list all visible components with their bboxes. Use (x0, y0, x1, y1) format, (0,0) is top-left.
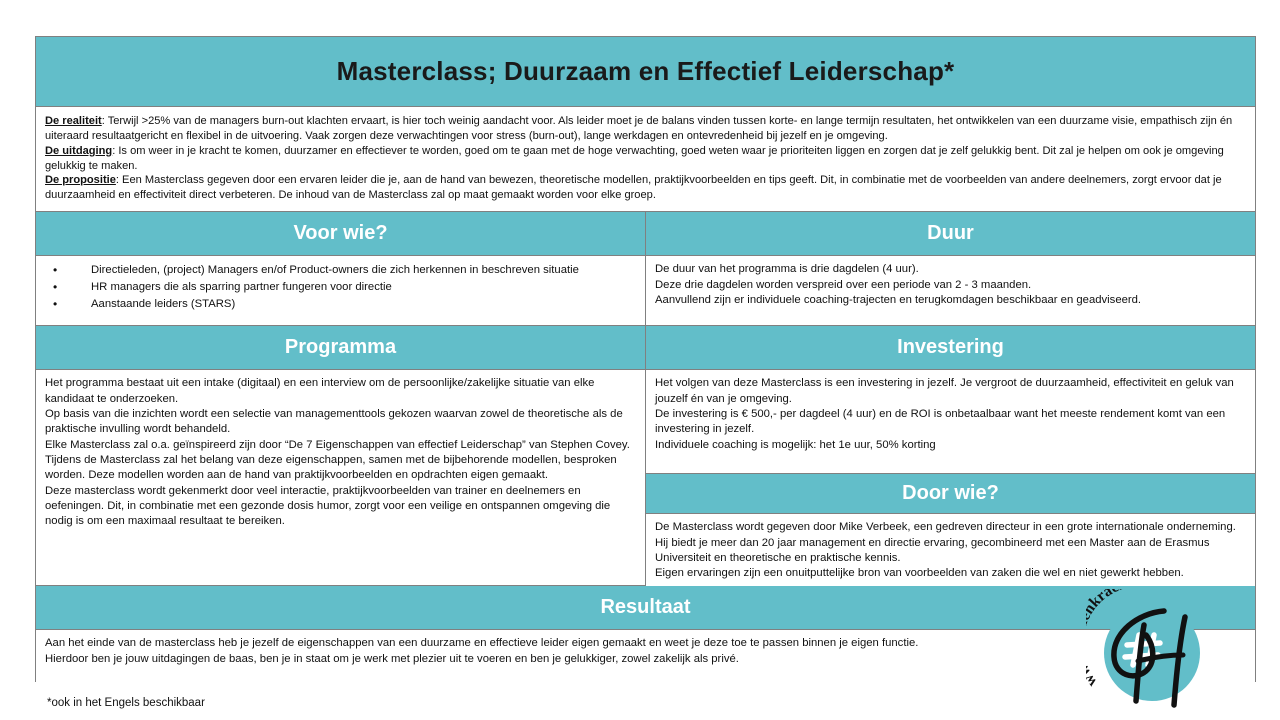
voorwie-duur-content-row: Directieleden, (project) Managers en/of … (36, 256, 1255, 326)
content-table: Masterclass; Duurzaam en Effectief Leide… (35, 36, 1256, 682)
duur-content: De duur van het programma is drie dagdel… (646, 256, 1255, 326)
list-item: Directieleden, (project) Managers en/of … (45, 262, 636, 279)
door-wie-paragraph: De Masterclass wordt gegeven door Mike V… (655, 520, 1246, 566)
section-heading-programma: Programma (36, 326, 646, 370)
intro-uitdaging: De uitdaging: Is om weer in je kracht te… (45, 144, 1246, 174)
list-item: Aanstaande leiders (STARS) (45, 296, 636, 313)
resultaat-content: Aan het einde van de masterclass heb je … (36, 630, 1255, 682)
duur-line: De duur van het programma is drie dagdel… (655, 262, 1246, 277)
intro-realiteit: De realiteit: Terwijl >25% van de manage… (45, 114, 1246, 144)
duur-line: Deze drie dagdelen worden verspreid over… (655, 278, 1246, 293)
intro-block: De realiteit: Terwijl >25% van de manage… (36, 107, 1255, 212)
intro-propositie-text: : Een Masterclass gegeven door een ervar… (45, 174, 1222, 201)
programma-paragraph: Op basis van die inzichten wordt een sel… (45, 407, 636, 438)
investering-doorwie-stack: Het volgen van deze Masterclass is een i… (646, 370, 1255, 586)
investering-content: Het volgen van deze Masterclass is een i… (646, 370, 1255, 474)
section-heading-resultaat: Resultaat (36, 586, 1255, 630)
intro-realiteit-text: : Terwijl >25% van de managers burn-out … (45, 115, 1232, 142)
section-heading-duur: Duur (646, 212, 1255, 256)
programma-content: Het programma bestaat uit een intake (di… (36, 370, 646, 586)
resultaat-content-row: Aan het einde van de masterclass heb je … (36, 630, 1255, 682)
intro-propositie: De propositie: Een Masterclass gegeven d… (45, 173, 1246, 203)
page-title: Masterclass; Duurzaam en Effectief Leide… (36, 37, 1255, 107)
section-heading-door-wie: Door wie? (646, 474, 1255, 514)
resultaat-paragraph: Aan het einde van de masterclass heb je … (45, 636, 1246, 651)
duur-line: Aanvullend zijn er individuele coaching-… (655, 293, 1246, 308)
programma-paragraph: Deze masterclass wordt gekenmerkt door v… (45, 484, 636, 530)
door-wie-content: De Masterclass wordt gegeven door Mike V… (646, 514, 1255, 586)
intro-uitdaging-text: : Is om weer in je kracht te komen, duur… (45, 145, 1224, 172)
resultaat-paragraph: Hierdoor ben je jouw uitdagingen de baas… (45, 652, 1246, 667)
intro-uitdaging-label: De uitdaging (45, 145, 112, 157)
intro-realiteit-label: De realiteit (45, 115, 102, 127)
section-heading-investering: Investering (646, 326, 1255, 370)
investering-paragraph: De investering is € 500,- per dagdeel (4… (655, 407, 1246, 438)
programma-paragraph: Elke Masterclass zal o.a. geïnspireerd z… (45, 438, 636, 484)
voor-wie-content: Directieleden, (project) Managers en/of … (36, 256, 646, 326)
footnote-text: *ook in het Engels beschikbaar (47, 697, 205, 709)
intro-propositie-label: De propositie (45, 174, 116, 186)
programma-investering-content-row: Het programma bestaat uit een intake (di… (36, 370, 1255, 586)
voor-wie-bullet-list: Directieleden, (project) Managers en/of … (45, 262, 636, 313)
door-wie-paragraph: Eigen ervaringen zijn een onuitputtelijk… (655, 566, 1246, 581)
investering-paragraph: Individuele coaching is mogelijk: het 1e… (655, 438, 1246, 453)
programma-paragraph: Het programma bestaat uit een intake (di… (45, 376, 636, 407)
intro-row: De realiteit: Terwijl >25% van de manage… (36, 107, 1255, 212)
list-item: HR managers die als sparring partner fun… (45, 279, 636, 296)
section-heading-voor-wie: Voor wie? (36, 212, 646, 256)
title-row: Masterclass; Duurzaam en Effectief Leide… (36, 37, 1255, 107)
voorwie-duur-heading-row: Voor wie? Duur (36, 212, 1255, 256)
investering-paragraph: Het volgen van deze Masterclass is een i… (655, 376, 1246, 407)
programma-investering-heading-row: Programma Investering (36, 326, 1255, 370)
slide-canvas: Masterclass; Duurzaam en Effectief Leide… (0, 0, 1280, 720)
resultaat-heading-row: Resultaat (36, 586, 1255, 630)
